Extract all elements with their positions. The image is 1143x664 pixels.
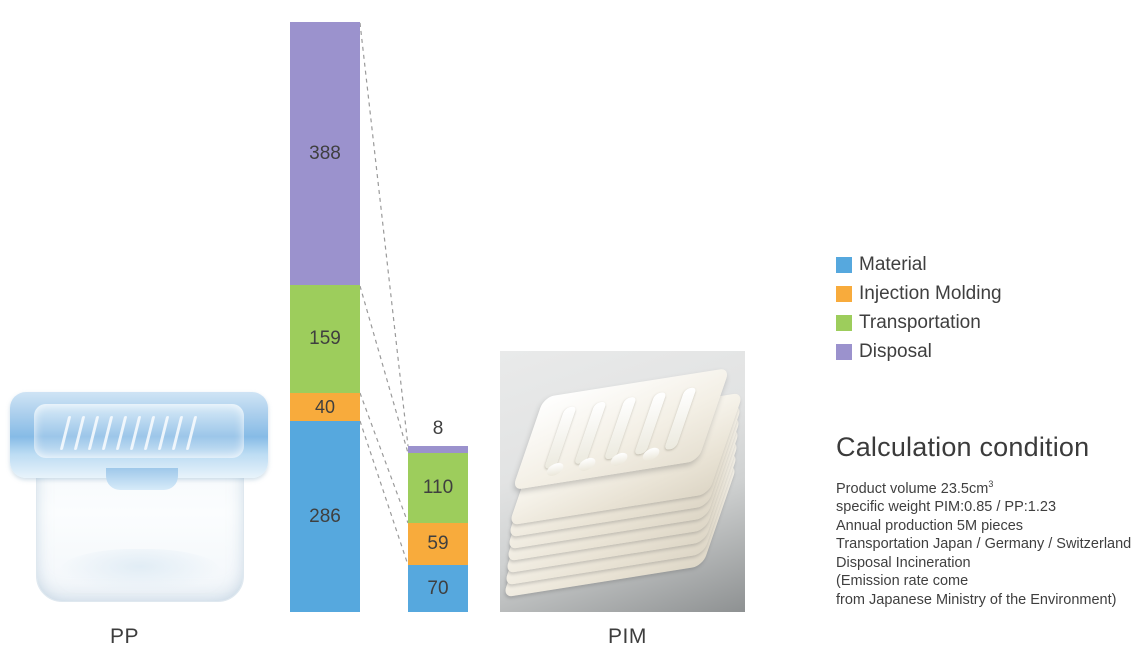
pim-stacked-bar: 8 110 59 70 [408,446,468,612]
pim-segment-disposal[interactable] [408,446,468,453]
calc-line-product-volume: Product volume 23.5cm3 [836,475,1136,498]
pp-value-injection-molding: 40 [315,397,335,418]
pim-value-disposal: 8 [408,418,468,440]
pim-value-transportation: 110 [423,477,453,499]
pim-value-injection-molding: 59 [427,533,448,555]
legend-swatch-injection-molding [836,286,852,302]
infographic-canvas: PP PIM [0,0,1143,664]
calc-line-specific-weight: specific weight PIM:0.85 / PP:1.23 [836,498,1136,517]
legend-item-disposal[interactable]: Disposal [836,342,1002,361]
pp-value-material: 286 [309,506,341,528]
calculation-condition-title: Calculation condition [836,432,1136,463]
legend-item-injection-molding[interactable]: Injection Molding [836,284,1002,303]
calc-line-disposal: Disposal Incineration [836,554,1136,573]
pp-value-transportation: 159 [309,328,341,350]
legend-label-material: Material [859,255,927,274]
calc-line-annual-production: Annual production 5M pieces [836,517,1136,536]
pp-product-photo [8,382,270,610]
chart-legend: Material Injection Molding Transportatio… [836,255,1002,371]
pim-tray-stack [518,379,728,584]
legend-label-disposal: Disposal [859,342,932,361]
pim-segment-injection-molding[interactable]: 59 [408,523,468,565]
pp-segment-material[interactable]: 286 [290,421,360,612]
legend-swatch-material [836,257,852,273]
pp-lid-ribs [64,416,200,450]
legend-item-material[interactable]: Material [836,255,1002,274]
pp-lid-tab [106,468,178,490]
legend-swatch-transportation [836,315,852,331]
calc-line-emission-note-2: from Japanese Ministry of the Environmen… [836,591,1136,610]
pim-product-photo [500,351,745,612]
pim-segment-transportation[interactable]: 110 [408,453,468,523]
pim-value-material: 70 [427,578,448,600]
pp-value-disposal: 388 [309,143,341,165]
pim-segment-material[interactable]: 70 [408,565,468,612]
calculation-condition-block: Calculation condition Product volume 23.… [836,432,1136,609]
pp-container-lid [10,392,268,478]
pp-segment-disposal[interactable]: 388 [290,22,360,285]
pp-stacked-bar: 388 159 40 286 [290,22,360,612]
pp-caption: PP [110,625,139,649]
legend-label-transportation: Transportation [859,313,981,332]
pp-segment-transportation[interactable]: 159 [290,285,360,393]
calc-line-transportation: Transportation Japan / Germany / Switzer… [836,535,1136,554]
pp-segment-injection-molding[interactable]: 40 [290,393,360,421]
legend-swatch-disposal [836,344,852,360]
legend-item-transportation[interactable]: Transportation [836,313,1002,332]
calc-line-emission-note-1: (Emission rate come [836,572,1136,591]
legend-label-injection-molding: Injection Molding [859,284,1002,303]
pim-caption: PIM [608,625,647,649]
